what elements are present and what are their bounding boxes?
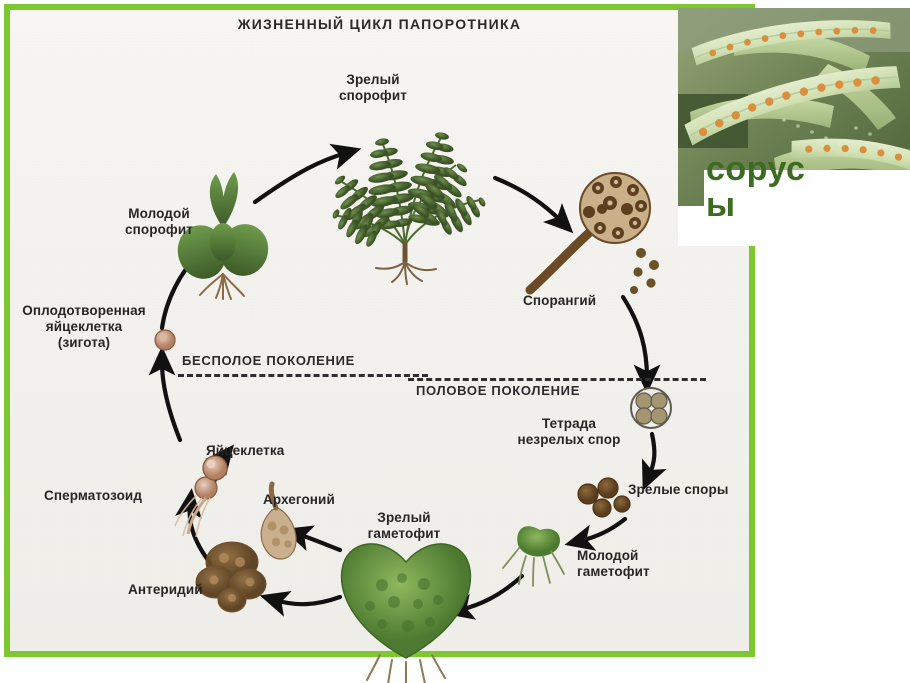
spermatozoon-illustration	[175, 477, 217, 537]
label-mature-gametophyte: Зрелый гаметофит	[355, 510, 453, 542]
label-spermatozoon: Сперматозоид	[44, 488, 142, 504]
mature-gametophyte-illustration	[342, 544, 471, 683]
generation-divider-right	[408, 378, 706, 381]
zygote-illustration	[155, 330, 175, 350]
label-sporangium: Спорангий	[523, 293, 596, 309]
arrow-tetrad-to-spores	[649, 434, 654, 476]
label-spore-tetrad: Тетрада незрелых спор	[505, 416, 633, 448]
label-mature-spores: Зрелые споры	[628, 482, 728, 498]
sexual-generation-label: ПОЛОВОЕ ПОКОЛЕНИЕ	[416, 383, 580, 398]
asexual-generation-label: БЕСПОЛОЕ ПОКОЛЕНИЕ	[182, 353, 355, 368]
sori-caption: сорус ы	[706, 152, 906, 223]
slide-frame: ЖИЗНЕННЫЙ ЦИКЛ ПАПОРОТНИКА	[4, 4, 755, 657]
label-archegonium: Архегоний	[263, 492, 335, 508]
label-egg-cell: Яйцеклетка	[206, 443, 284, 459]
mature-spores-illustration	[578, 478, 630, 517]
sori-caption-line1: сорус	[706, 150, 805, 188]
label-young-sporophyte: Молодой спорофит	[109, 206, 209, 238]
arrow-sporangium-to-tetrad	[623, 297, 647, 378]
sori-caption-line2: ы	[706, 188, 906, 224]
generation-divider-left	[178, 374, 428, 377]
label-young-gametophyte: Молодой гаметофит	[577, 548, 650, 580]
arrow-spores-to-young-gametophyte	[580, 519, 625, 541]
arrow-mature-to-sporangium	[495, 178, 562, 222]
label-mature-sporophyte: Зрелый спорофит	[328, 72, 418, 104]
arrow-gametophyte-to-archegonium	[298, 534, 340, 550]
label-zygote: Оплодотворенная яйцеклетка (зигота)	[14, 303, 154, 351]
spore-tetrad-illustration	[631, 388, 671, 428]
antheridium-illustration	[196, 542, 266, 612]
slide-canvas: ЖИЗНЕННЫЙ ЦИКЛ ПАПОРОТНИКА	[0, 0, 910, 683]
mature-sporophyte-illustration	[323, 128, 492, 284]
egg-cell-illustration	[203, 456, 227, 480]
label-antheridium: Антеридий	[128, 582, 203, 598]
arrow-young-to-mature	[255, 153, 346, 202]
released-spores	[630, 248, 659, 294]
arrow-gametophyte-to-antheridium	[275, 597, 340, 604]
sporangium-illustration	[530, 173, 659, 294]
young-gametophyte-illustration	[503, 526, 564, 586]
